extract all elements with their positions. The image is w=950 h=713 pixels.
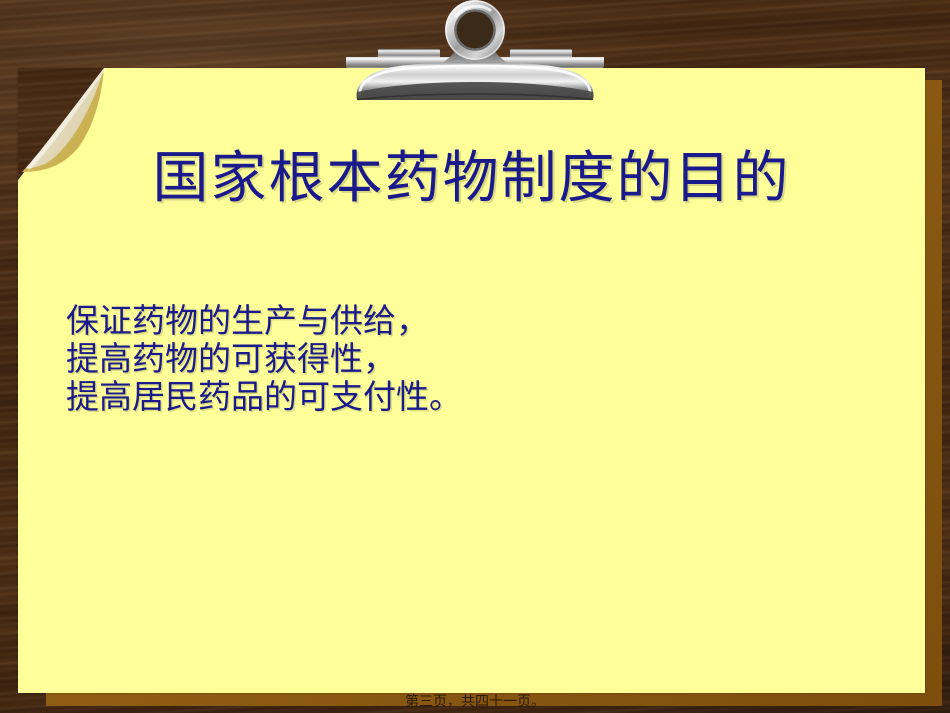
page-number-footer: 第三页，共四十一页。: [0, 694, 950, 711]
body-line-1: 保证药物的生产与供给，: [66, 302, 866, 340]
slide-title: 国家根本药物制度的目的: [18, 146, 925, 212]
slide-canvas: 国家根本药物制度的目的 保证药物的生产与供给， 提高药物的可获得性， 提高居民药…: [0, 0, 950, 713]
body-line-3: 提高居民药品的可支付性。: [66, 378, 866, 416]
slide-body: 保证药物的生产与供给， 提高药物的可获得性， 提高居民药品的可支付性。: [66, 302, 866, 416]
body-line-2: 提高药物的可获得性，: [66, 340, 866, 378]
